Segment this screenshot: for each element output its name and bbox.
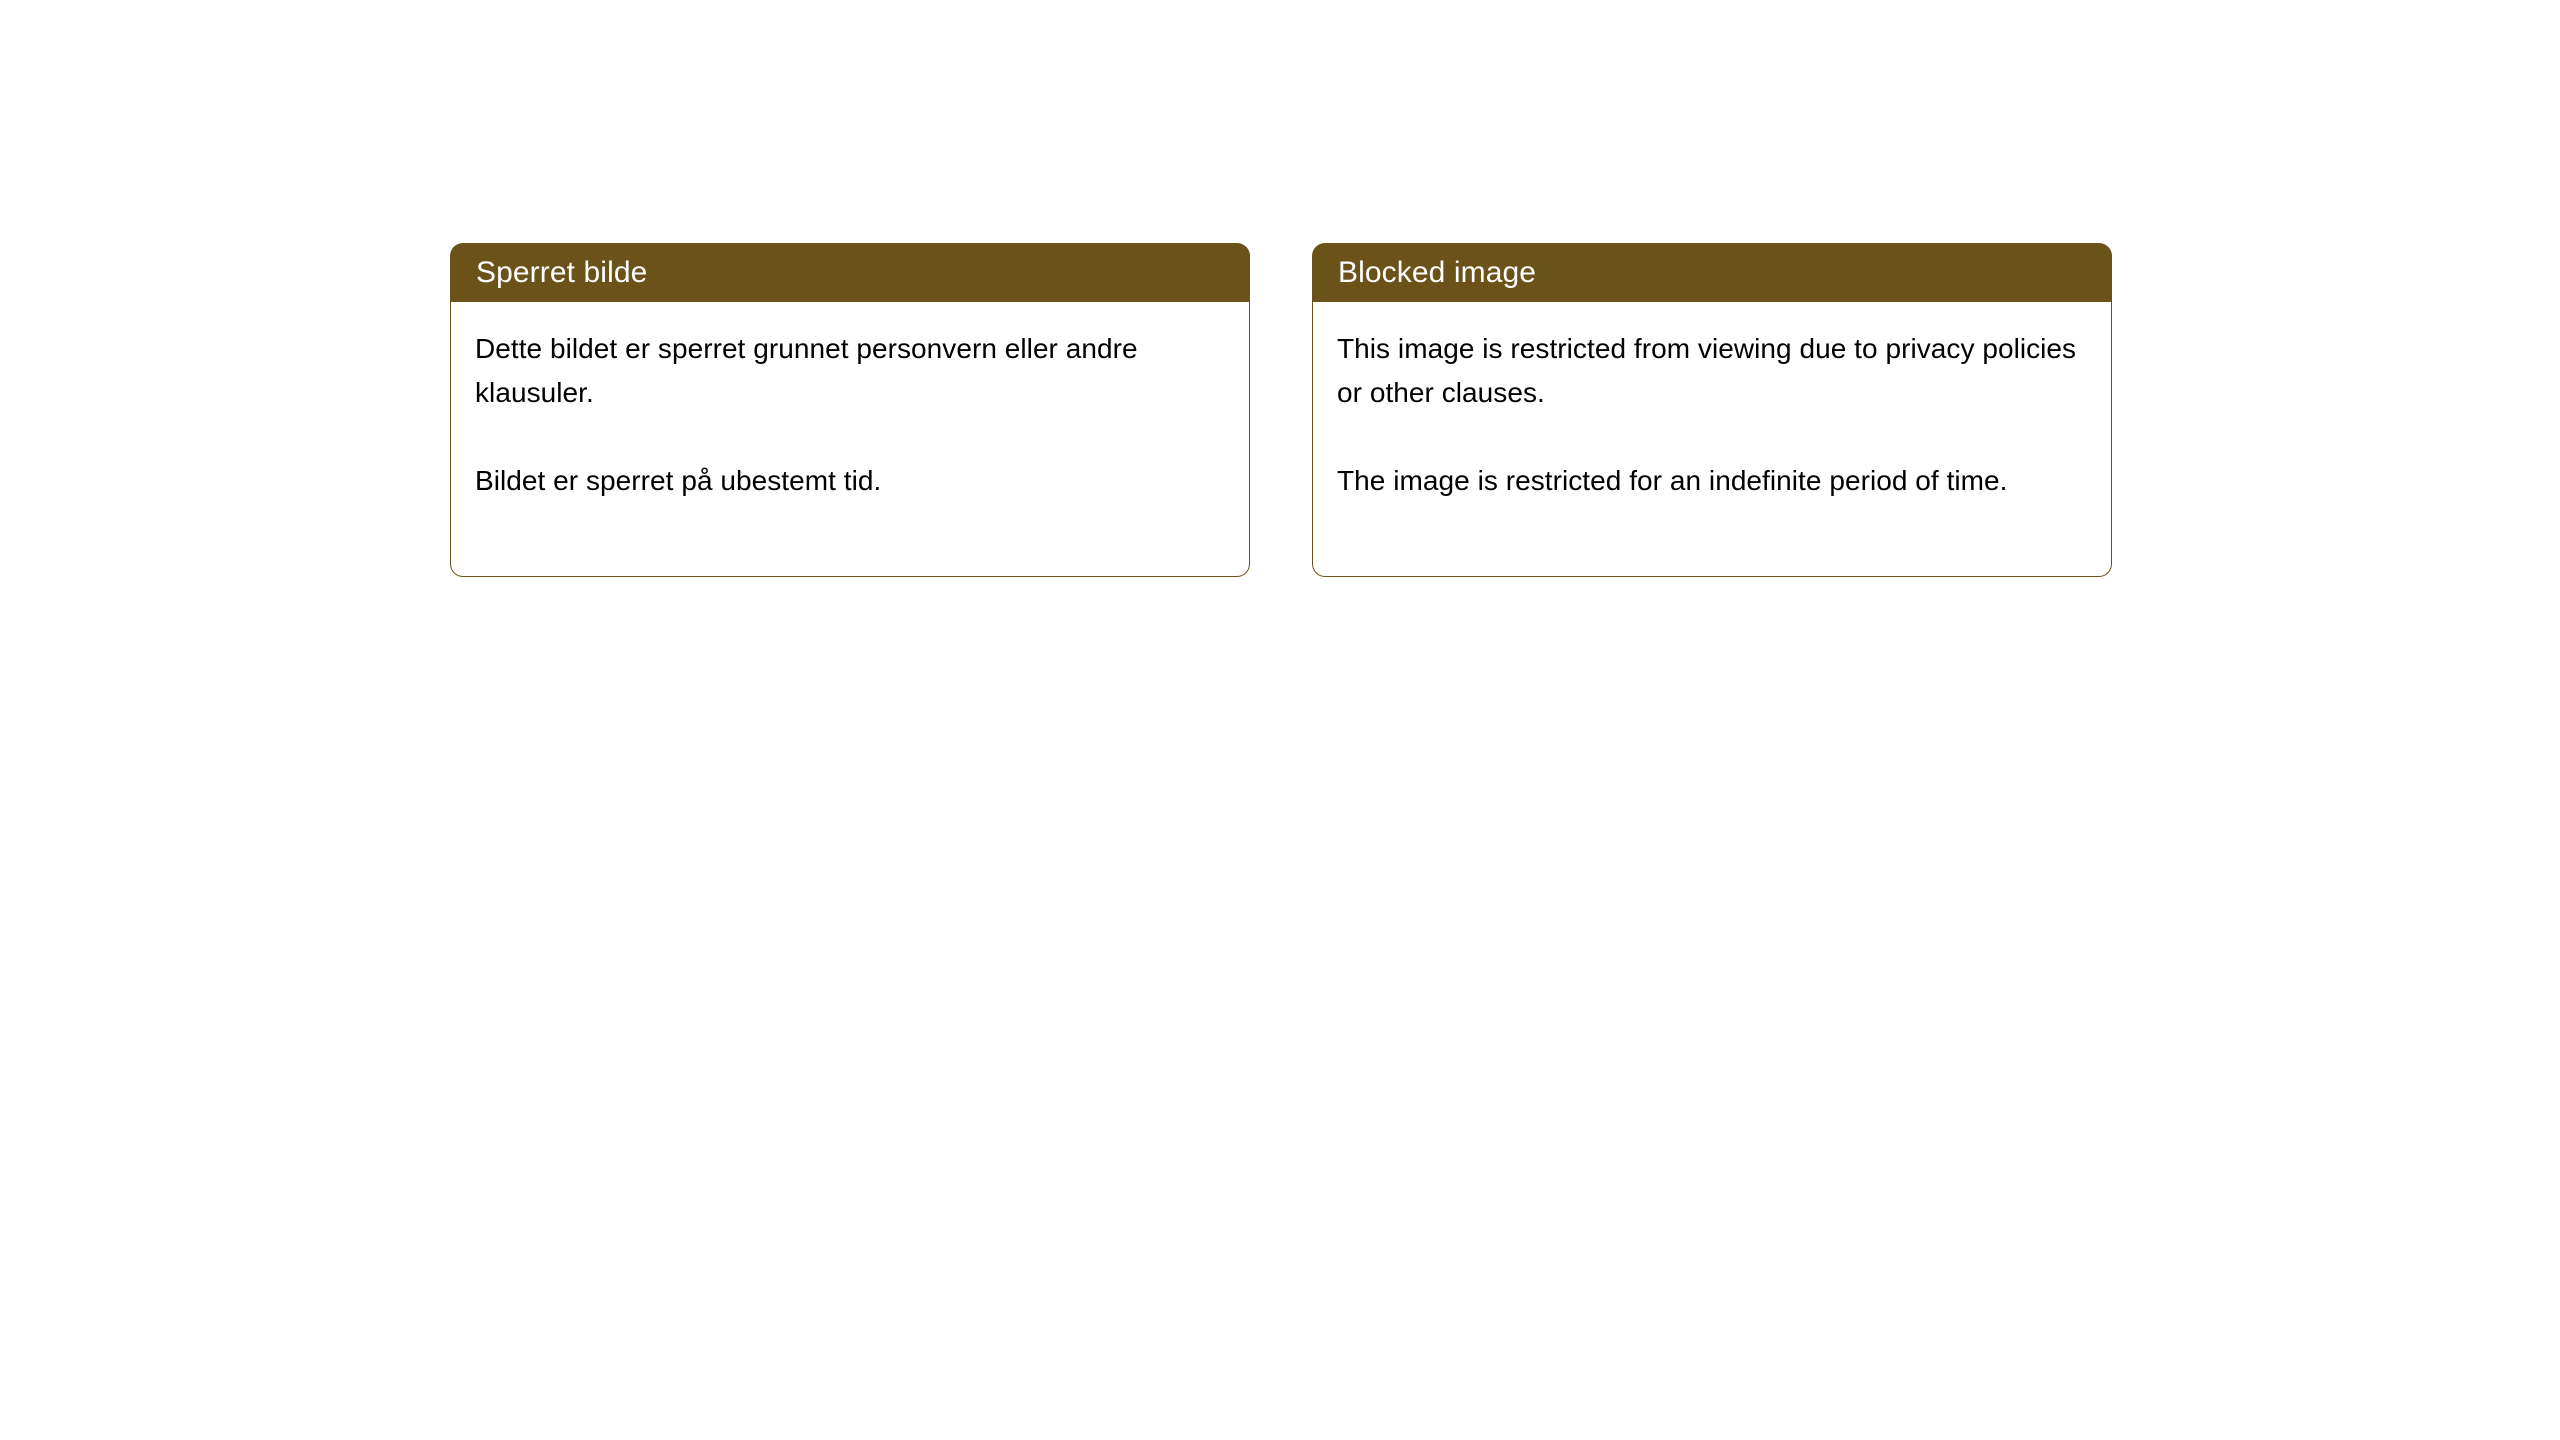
page-canvas: Sperret bilde Dette bildet er sperret gr… xyxy=(0,0,2560,1440)
card-paragraph-primary-no: Dette bildet er sperret grunnet personve… xyxy=(475,327,1225,415)
card-paragraph-secondary-no: Bildet er sperret på ubestemt tid. xyxy=(475,459,1225,503)
card-paragraph-primary-en: This image is restricted from viewing du… xyxy=(1337,327,2087,415)
blocked-image-notice-card-no: Sperret bilde Dette bildet er sperret gr… xyxy=(450,243,1250,577)
card-paragraph-secondary-en: The image is restricted for an indefinit… xyxy=(1337,459,2087,503)
card-header-no: Sperret bilde xyxy=(450,243,1250,302)
card-title-no: Sperret bilde xyxy=(476,256,647,290)
card-body-no: Dette bildet er sperret grunnet personve… xyxy=(450,302,1250,577)
blocked-image-notice-card-en: Blocked image This image is restricted f… xyxy=(1312,243,2112,577)
card-title-en: Blocked image xyxy=(1338,256,1536,290)
card-body-en: This image is restricted from viewing du… xyxy=(1312,302,2112,577)
card-header-en: Blocked image xyxy=(1312,243,2112,302)
